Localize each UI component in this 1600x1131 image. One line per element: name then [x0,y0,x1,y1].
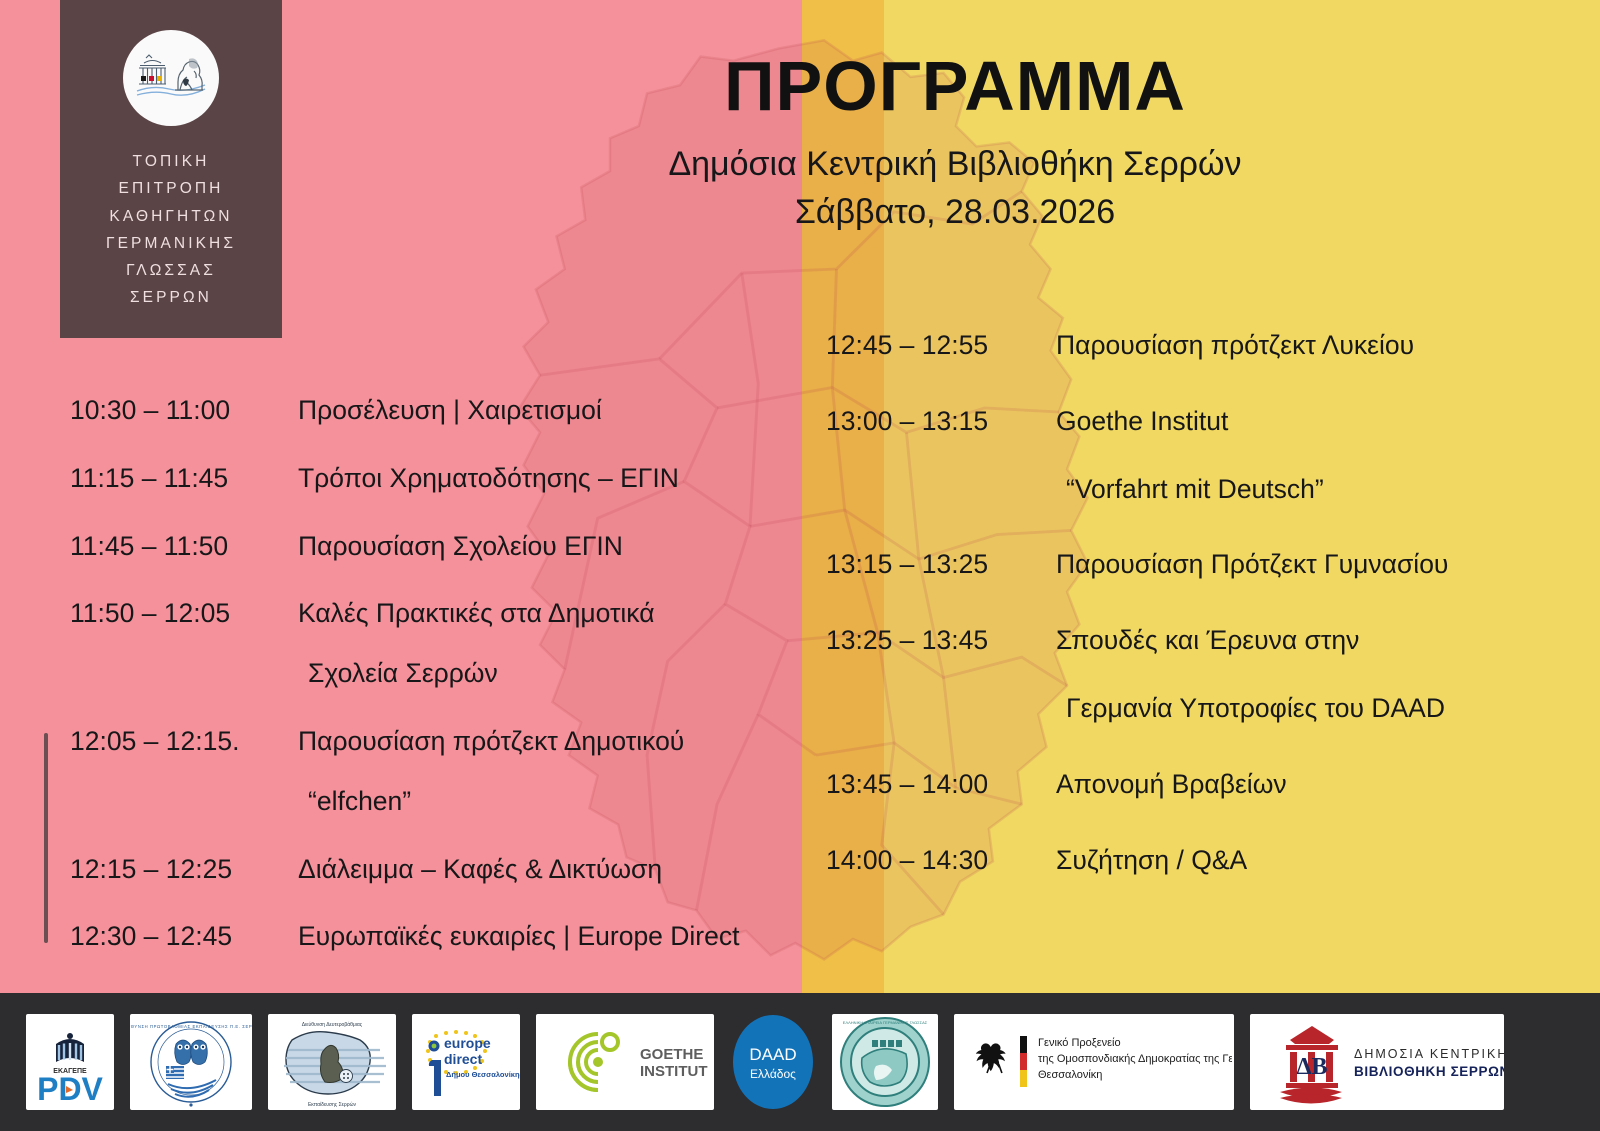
schedule-time: 13:25 – 13:45 [826,625,1056,657]
schedule-row: 10:30 – 11:00 Προσέλευση | Χαιρετισμοί [70,395,830,427]
brandenburg-gate-and-lion-emblem-icon [123,30,219,126]
dide-caption-bottom: Εκπαίδευσης Σερρών [308,1101,357,1108]
schedule-desc: Προσέλευση | Χαιρετισμοί [298,395,830,427]
venue-name: Δημόσια Κεντρική Βιβλιοθήκη Σερρών [668,145,1241,183]
schedule-desc: Παρουσίαση Σχολείου ΕΓΙΝ [298,531,830,563]
goethe-secondary: INSTITUT [640,1063,708,1080]
consulate-line-2: της Ομοσπονδιακής Δημοκρατίας της Γερμαν… [1038,1053,1232,1065]
schedule-row: 13:00 – 13:15 Goethe Institut [826,406,1566,438]
org-line-6: ΣΕΡΡΩΝ [106,284,236,311]
dide-serron-logo: Διεύθυνση Δευτεροβάθμιας Εκπαίδευσης Σερ… [268,1014,396,1110]
schedule-row-continuation: Σχολεία Σερρών [70,658,830,690]
europe-direct-primary: europe [444,1035,491,1051]
schedule-desc: Παρουσίαση Πρότζεκτ Γυμνασίου [1056,549,1566,581]
goethe-institut-logo: GOETHE INSTITUT [536,1014,714,1110]
schedule-desc: Τρόποι Χρηματοδότησης – ΕΓΙΝ [298,463,830,495]
library-monogram: ΔΒ [1296,1054,1327,1080]
schedule-row: 11:45 – 11:50 Παρουσίαση Σχολείου ΕΓΙΝ [70,531,830,563]
page-title: ΠΡΟΓΡΑΜΜΑ [450,50,1460,124]
schedule-row-continuation: Γερμανία Υποτροφίες του DAAD [826,693,1566,725]
schedule-row: 12:45 – 12:55 Παρουσίαση πρότζεκτ Λυκείο… [826,330,1566,362]
org-line-1: ΤΟΠΙΚΗ [106,148,236,175]
event-date: Σάββατο, 28.03.2026 [450,188,1460,236]
schedule-time: 10:30 – 11:00 [70,395,298,427]
goethe-primary: GOETHE [640,1046,703,1063]
schedule-desc: Διάλειμμα – Καφές & Δικτύωση [298,854,830,886]
schedule-column-left: 10:30 – 11:00 Προσέλευση | Χαιρετισμοί 1… [70,395,830,989]
schedule-desc: Σπουδές και Έρευνα στην [1056,625,1566,657]
schedule-row: 13:15 – 13:25 Παρουσίαση Πρότζεκτ Γυμνασ… [826,549,1566,581]
schedule-desc: Παρουσίαση πρότζεκτ Λυκείου [1056,330,1566,362]
daad-primary: DAAD [749,1045,796,1064]
sponsor-logo-strip: ΕΚΑΓΕΠΕ PDV [0,993,1600,1131]
schedule-time: 12:05 – 12:15. [70,726,298,758]
schedule-time: 11:45 – 11:50 [70,531,298,563]
schedule-row: 11:50 – 12:05 Καλές Πρακτικές στα Δημοτι… [70,598,830,630]
daad-secondary: Ελλάδος [750,1067,796,1081]
europe-direct-caption: Δήμου Θεσσαλονίκης [446,1070,520,1079]
schedule-marker-bar [44,733,48,943]
schedule-row-continuation: “Vorfahrt mit Deutsch” [826,474,1566,506]
schedule-desc: Απονομή Βραβείων [1056,769,1566,801]
schedule-time: 11:15 – 11:45 [70,463,298,495]
library-line-2: ΒΙΒΛΙΟΘΗΚΗ ΣΕΡΡΩΝ [1354,1064,1504,1079]
poster-header: ΠΡΟΓΡΑΜΜΑ Δημόσια Κεντρική Βιβλιοθήκη Σε… [450,50,1460,236]
schedule-row: 13:25 – 13:45 Σπουδές και Έρευνα στην [826,625,1566,657]
consulate-line-1: Γενικό Προξενείο [1038,1037,1121,1049]
schedule-row: 12:15 – 12:25 Διάλειμμα – Καφές & Δικτύω… [70,854,830,886]
organisation-name: ΤΟΠΙΚΗ ΕΠΙΤΡΟΠΗ ΚΑΘΗΓΗΤΩΝ ΓΕΡΜΑΝΙΚΗΣ ΓΛΩ… [106,148,236,312]
organisation-logo-panel: ΤΟΠΙΚΗ ΕΠΙΤΡΟΠΗ ΚΑΘΗΓΗΤΩΝ ΓΕΡΜΑΝΙΚΗΣ ΓΛΩ… [60,0,282,338]
german-consulate-logo: Γενικό Προξενείο της Ομοσπονδιακής Δημοκ… [954,1014,1234,1110]
schedule-time: 12:15 – 12:25 [70,854,298,886]
schedule-desc: Γερμανία Υποτροφίες του DAAD [1056,693,1566,725]
schedule-row: 13:45 – 14:00 Απονομή Βραβείων [826,769,1566,801]
schedule-desc: Συζήτηση / Q&A [1056,845,1566,877]
schedule-time: 13:15 – 13:25 [826,549,1056,581]
europe-direct-logo: europe direct Δήμου Θεσσαλονίκης [412,1014,520,1110]
schedule-row: 12:30 – 12:45 Ευρωπαϊκές ευκαιρίες | Eur… [70,921,830,953]
schedule-row: 14:00 – 14:30 Συζήτηση / Q&A [826,845,1566,877]
schedule-column-right: 12:45 – 12:55 Παρουσίαση πρότζεκτ Λυκείο… [826,330,1566,920]
pdv-ekagepe-logo: ΕΚΑΓΕΠΕ PDV [26,1014,114,1110]
schedule-desc: Σχολεία Σερρών [298,658,830,690]
public-central-library-serres-logo: ΔΒ ΔΗΜΟΣΙΑ ΚΕΝΤΡΙΚΗ ΒΙΒΛΙΟΘΗΚΗ ΣΕΡΡΩΝ [1250,1014,1504,1110]
dide-caption-top: Διεύθυνση Δευτεροβάθμιας [302,1021,363,1028]
schedule-row: 11:15 – 11:45 Τρόποι Χρηματοδότησης – ΕΓ… [70,463,830,495]
schedule-desc: “Vorfahrt mit Deutsch” [1056,474,1566,506]
org-line-4: ΓΕΡΜΑΝΙΚΗΣ [106,230,236,257]
schedule-desc: Ευρωπαϊκές ευκαιρίες | Europe Direct [298,921,830,953]
dipe-caption: ΔΙΕΥΘΥΝΣΗ ΠΡΩΤΟΒΑΘΜΙΑΣ ΕΚΠΑΙΔΕΥΣΗΣ Π.Ε. … [130,1024,252,1029]
org-line-5: ΓΛΩΣΣΑΣ [106,257,236,284]
schedule-time: 13:45 – 14:00 [826,769,1056,801]
schedule-time: 12:45 – 12:55 [826,330,1056,362]
dipe-serron-logo: ΔΙΕΥΘΥΝΣΗ ΠΡΩΤΟΒΑΘΜΙΑΣ ΕΚΠΑΙΔΕΥΣΗΣ Π.Ε. … [130,1014,252,1110]
poster-canvas: ΤΟΠΙΚΗ ΕΠΙΤΡΟΠΗ ΚΑΘΗΓΗΤΩΝ ΓΕΡΜΑΝΙΚΗΣ ΓΛΩ… [0,0,1600,1131]
schedule-time: 12:30 – 12:45 [70,921,298,953]
europe-direct-secondary: direct [444,1051,482,1067]
schedule-time: 14:00 – 14:30 [826,845,1056,877]
schedule-time: 13:00 – 13:15 [826,406,1056,438]
library-line-1: ΔΗΜΟΣΙΑ ΚΕΝΤΡΙΚΗ [1354,1047,1504,1061]
org-line-2: ΕΠΙΤΡΟΠΗ [106,175,236,202]
schedule-desc: Παρουσίαση πρότζεκτ Δημοτικού [298,726,830,758]
elta-caption: ΕΛΛΗΝΙΚΗ ΕΤΑΙΡΕΙΑ ΓΕΡΜΑΝΙΚΗΣ ΓΛΩΣΣΑΣ [843,1020,928,1025]
consulate-line-3: Θεσσαλονίκη [1038,1069,1102,1081]
daad-ellados-logo: DAAD Ελλάδος [730,1014,816,1110]
schedule-desc: Goethe Institut [1056,406,1566,438]
elliniki-etaireia-logo: ΕΛΛΗΝΙΚΗ ΕΤΑΙΡΕΙΑ ΓΕΡΜΑΝΙΚΗΣ ΓΛΩΣΣΑΣ [832,1014,938,1110]
schedule-row: 12:05 – 12:15. Παρουσίαση πρότζεκτ Δημοτ… [70,726,830,758]
schedule-desc: “elfchen” [298,786,830,818]
schedule-desc: Καλές Πρακτικές στα Δημοτικά [298,598,830,630]
schedule-time: 11:50 – 12:05 [70,598,298,630]
venue-and-date: Δημόσια Κεντρική Βιβλιοθήκη Σερρών Σάββα… [450,140,1460,237]
org-line-3: ΚΑΘΗΓΗΤΩΝ [106,203,236,230]
schedule-row-continuation: “elfchen” [70,786,830,818]
